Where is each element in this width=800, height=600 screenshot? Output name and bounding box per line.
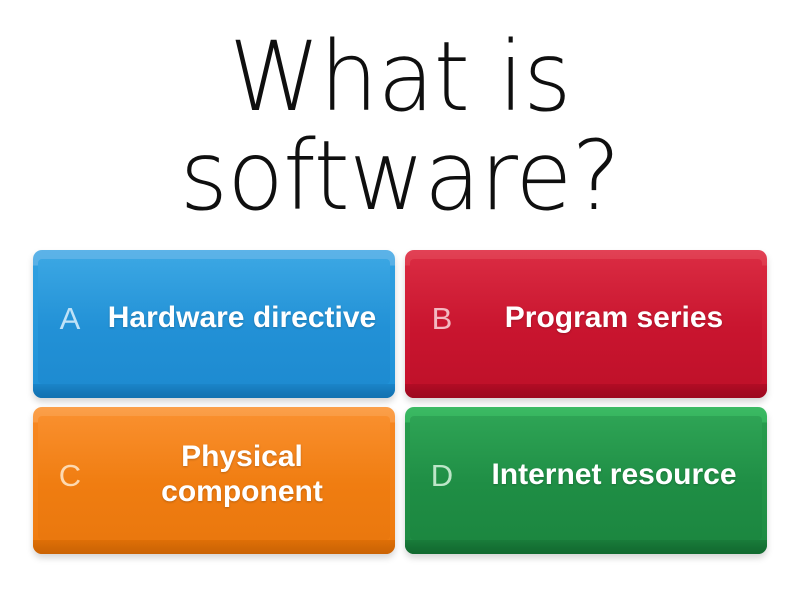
question-area: What is software? [0, 0, 800, 250]
answer-options-grid: A Hardware directive B Program series C … [0, 250, 800, 600]
answer-letter-d: D [405, 456, 479, 491]
answer-label-b: Program series [479, 298, 767, 335]
answer-option-a[interactable]: A Hardware directive [33, 250, 395, 398]
answer-letter-b: B [405, 299, 479, 334]
answer-label-d: Internet resource [479, 455, 767, 492]
answer-label-c: Physical component [107, 437, 395, 509]
answer-letter-a: A [33, 299, 107, 334]
answer-option-c[interactable]: C Physical component [33, 407, 395, 555]
answer-option-b[interactable]: B Program series [405, 250, 767, 398]
quiz-stage: What is software? A Hardware directive B… [0, 0, 800, 600]
answer-label-a: Hardware directive [107, 298, 395, 335]
page-title: What is software? [39, 28, 761, 226]
answer-option-d[interactable]: D Internet resource [405, 407, 767, 555]
answer-letter-c: C [33, 456, 107, 491]
